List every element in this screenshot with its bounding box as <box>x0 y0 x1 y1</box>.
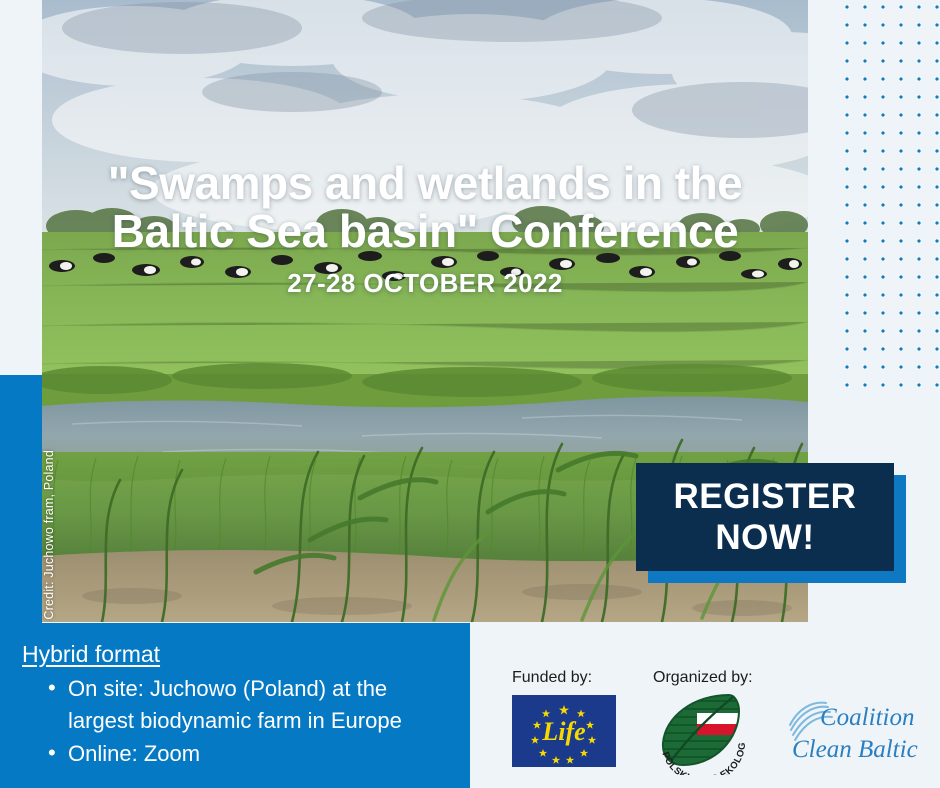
funded-by-caption: Funded by: <box>512 669 616 687</box>
organized-by-group: Organized by: <box>653 669 753 775</box>
organized-by-caption: Organized by: <box>653 669 753 687</box>
ccb-line-2: Clean Baltic <box>792 736 918 763</box>
register-label-line-1: REGISTER <box>674 476 857 517</box>
hybrid-format-heading: Hybrid format <box>22 641 450 669</box>
dot-grid-decoration <box>836 0 940 400</box>
funded-by-group: Funded by: Life <box>512 669 616 767</box>
coalition-clean-baltic-logo: Coalition Clean Baltic <box>786 697 926 765</box>
ccb-line-1: Coalition <box>820 704 914 731</box>
polski-klub-ekologiczny-logo: POLSKI KLUB EKOLOGICZNY <box>653 689 753 775</box>
photo-credit: Credit: Juchowo fram, Poland <box>42 450 56 622</box>
eu-life-logo: Life <box>512 695 616 767</box>
life-wordmark: Life <box>541 717 585 746</box>
list-item: Online: Zoom <box>48 738 450 770</box>
logo-strip: Funded by: Life <box>470 623 940 788</box>
list-item: On site: Juchowo (Poland) at the largest… <box>48 673 450 738</box>
register-now-button[interactable]: REGISTER NOW! <box>636 463 894 571</box>
hybrid-format-list: On site: Juchowo (Poland) at the largest… <box>22 673 450 771</box>
conference-poster: Credit: Juchowo fram, Poland "Swamps and… <box>0 0 940 788</box>
register-label-line-2: NOW! <box>715 517 814 558</box>
hybrid-format-panel: Hybrid format On site: Juchowo (Poland) … <box>0 623 470 788</box>
register-cta: REGISTER NOW! <box>636 463 894 571</box>
